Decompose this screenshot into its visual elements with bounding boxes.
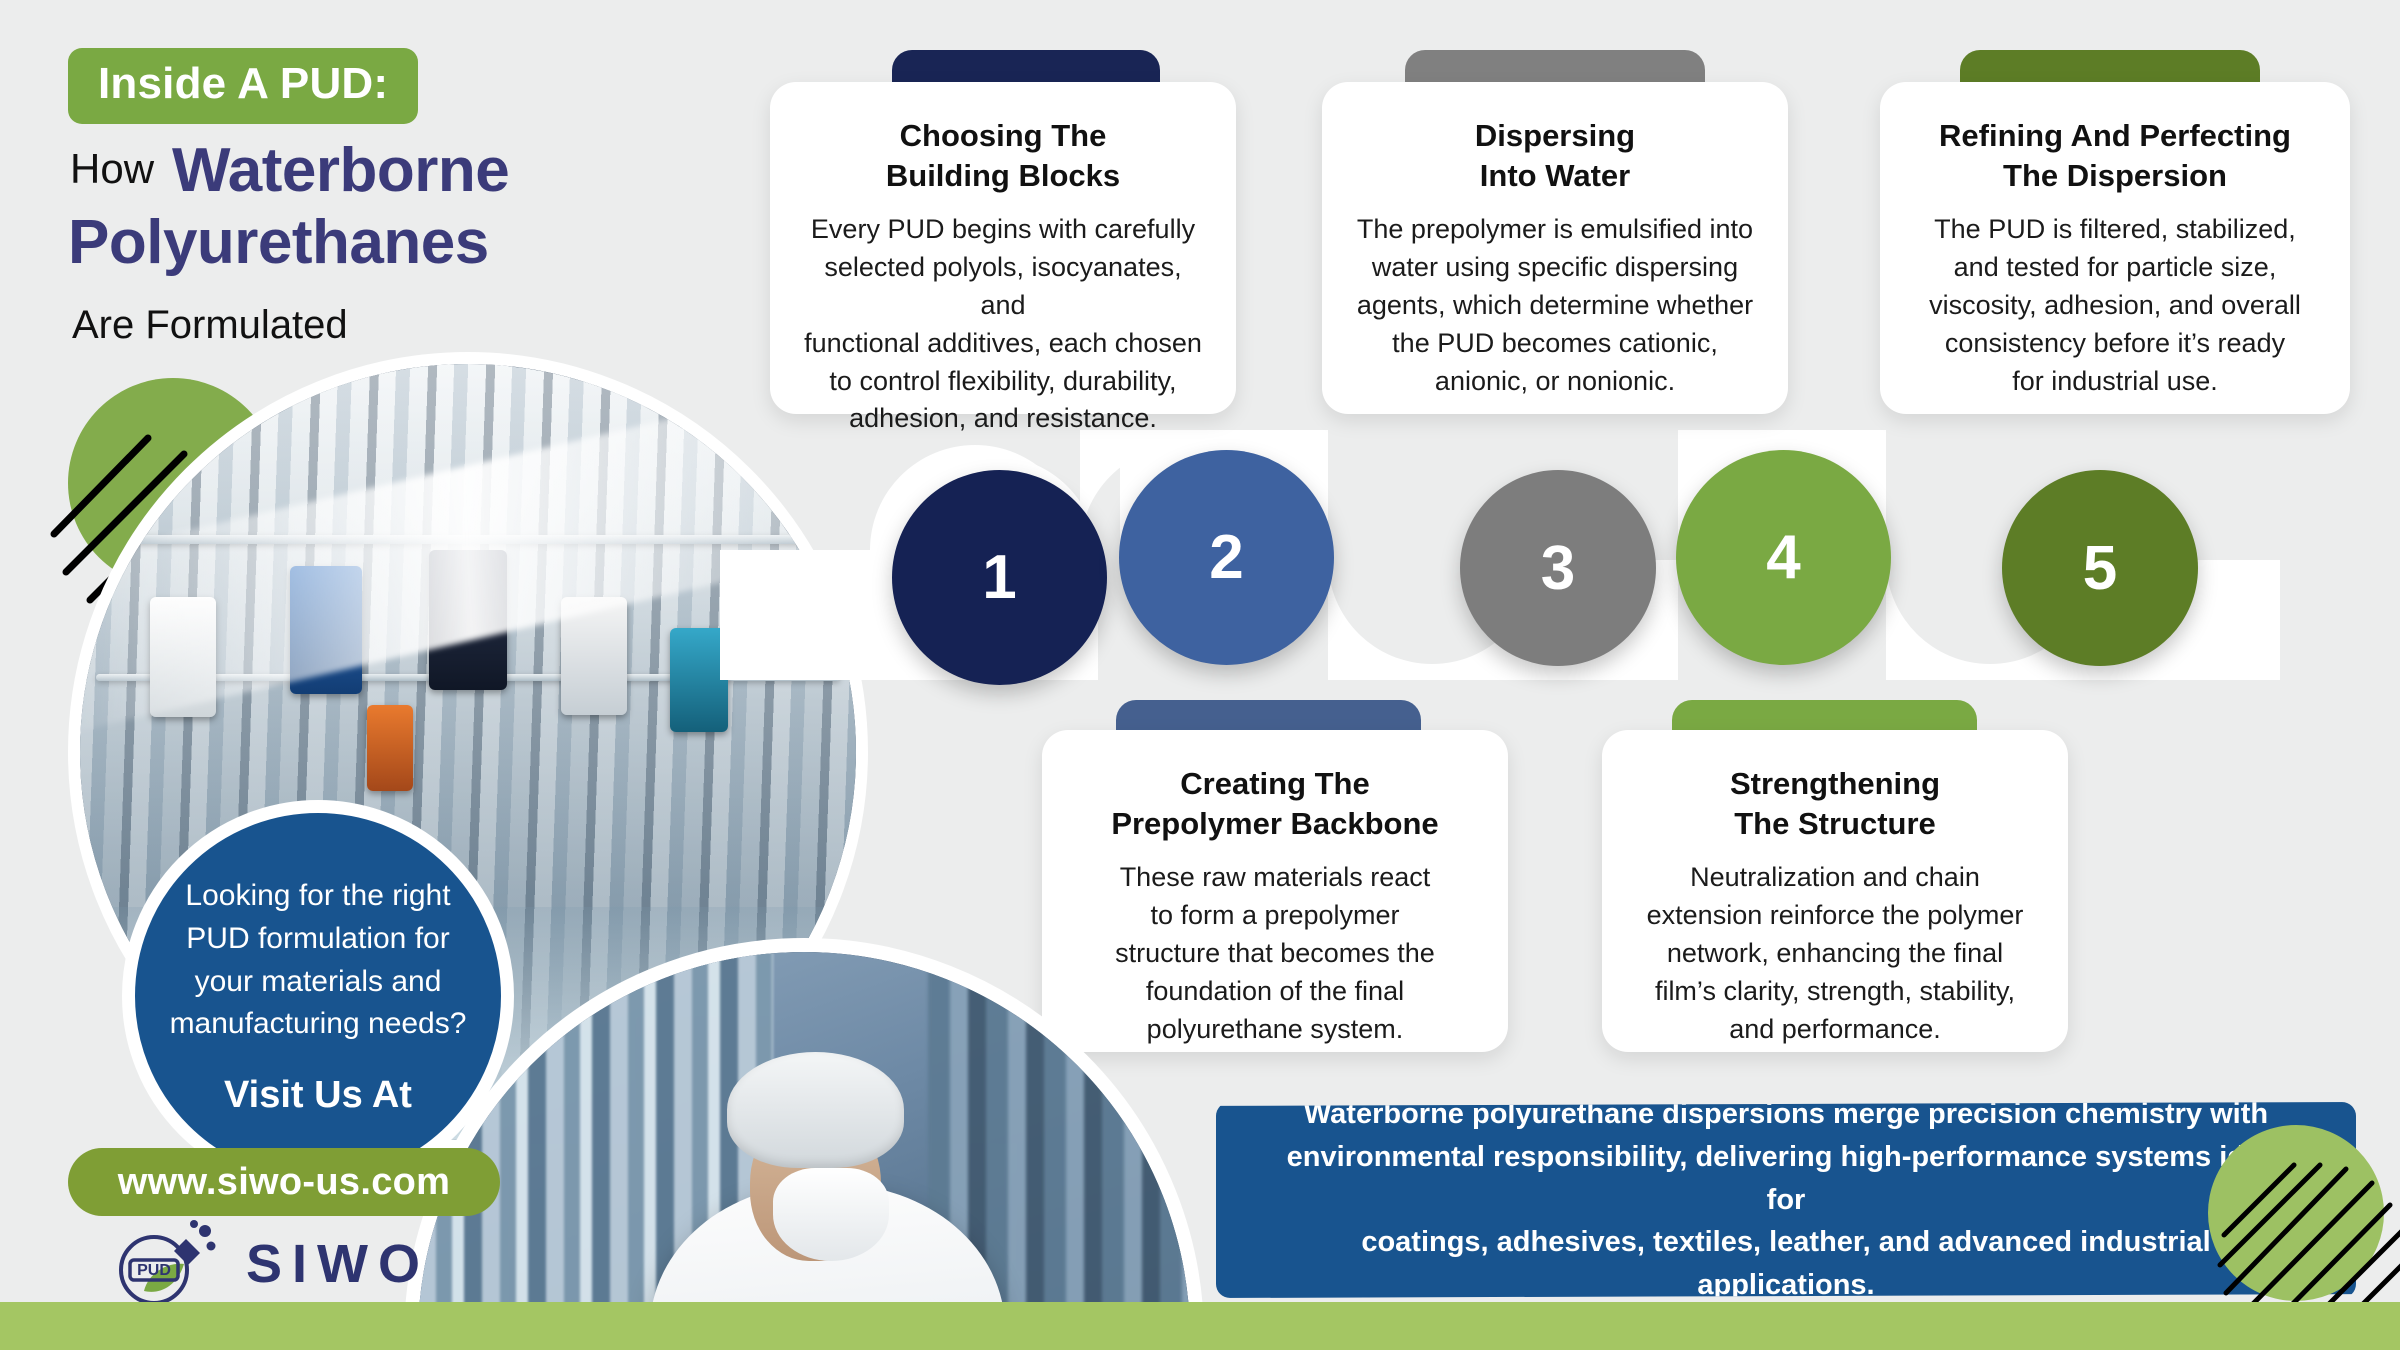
step-card-3: Dispersing Into Water The prepolymer is … [1322,82,1788,414]
siwo-logo-text: SIWO [246,1233,430,1295]
photo-sci-face-mask [773,1168,889,1261]
step-card-title: Choosing The Building Blocks [800,116,1206,195]
header-title-line1-row: How Waterborne [70,140,509,202]
step-card-title: Creating The Prepolymer Backbone [1072,764,1478,843]
siwo-logo[interactable]: PUD SIWO [108,1218,430,1310]
photo-scientist [404,938,1204,1350]
step-card-body: The PUD is filtered, stabilized, and tes… [1910,211,2320,400]
svg-text:PUD: PUD [137,1262,171,1279]
step-number-circle-2[interactable]: 2 [1119,450,1334,665]
header-how-word: How [70,148,154,202]
bottom-accent-strip [0,1302,2400,1350]
step-card-1: Choosing The Building Blocks Every PUD b… [770,82,1236,414]
photo-sci-hairnet [727,1052,905,1168]
infographic-canvas: Inside A PUD: How Waterborne Polyurethan… [0,0,2400,1350]
step-card-title: Dispersing Into Water [1352,116,1758,195]
decor-hatched-circle-right [2208,1125,2384,1301]
cta-question: Looking for the right PUD formulation fo… [135,875,501,1045]
step-card-body: Every PUD begins with carefully selected… [800,211,1206,438]
step-card-title: Refining And Perfecting The Dispersion [1910,116,2320,195]
step-card-body: The prepolymer is emulsified into water … [1352,211,1758,400]
step-card-body: Neutralization and chain extension reinf… [1632,859,2038,1048]
step-number-circle-3[interactable]: 3 [1460,470,1656,666]
step-card-5: Refining And Perfecting The Dispersion T… [1880,82,2350,414]
step-card-4: Strengthening The Structure Neutralizati… [1602,730,2068,1052]
photo-spool [367,705,413,791]
header-badge: Inside A PUD: [68,48,418,124]
step-number-circle-4[interactable]: 4 [1676,450,1891,665]
header-title-line1: Waterborne [172,140,509,202]
header-subtitle: Are Formulated [72,305,348,345]
step-number-circle-1[interactable]: 1 [892,470,1107,685]
step-card-title: Strengthening The Structure [1632,764,2038,843]
header-title-line2: Polyurethanes [68,212,489,274]
cta-circle[interactable]: Looking for the right PUD formulation fo… [122,800,514,1192]
decor-disc [2208,1125,2384,1301]
summary-banner: Waterborne polyurethane dispersions merg… [1216,1102,2356,1298]
cta-visit-label: Visit Us At [224,1074,412,1117]
step-number-circle-5[interactable]: 5 [2002,470,2198,666]
pud-flask-icon: PUD [108,1218,226,1310]
website-url-pill[interactable]: www.siwo-us.com [68,1148,500,1216]
